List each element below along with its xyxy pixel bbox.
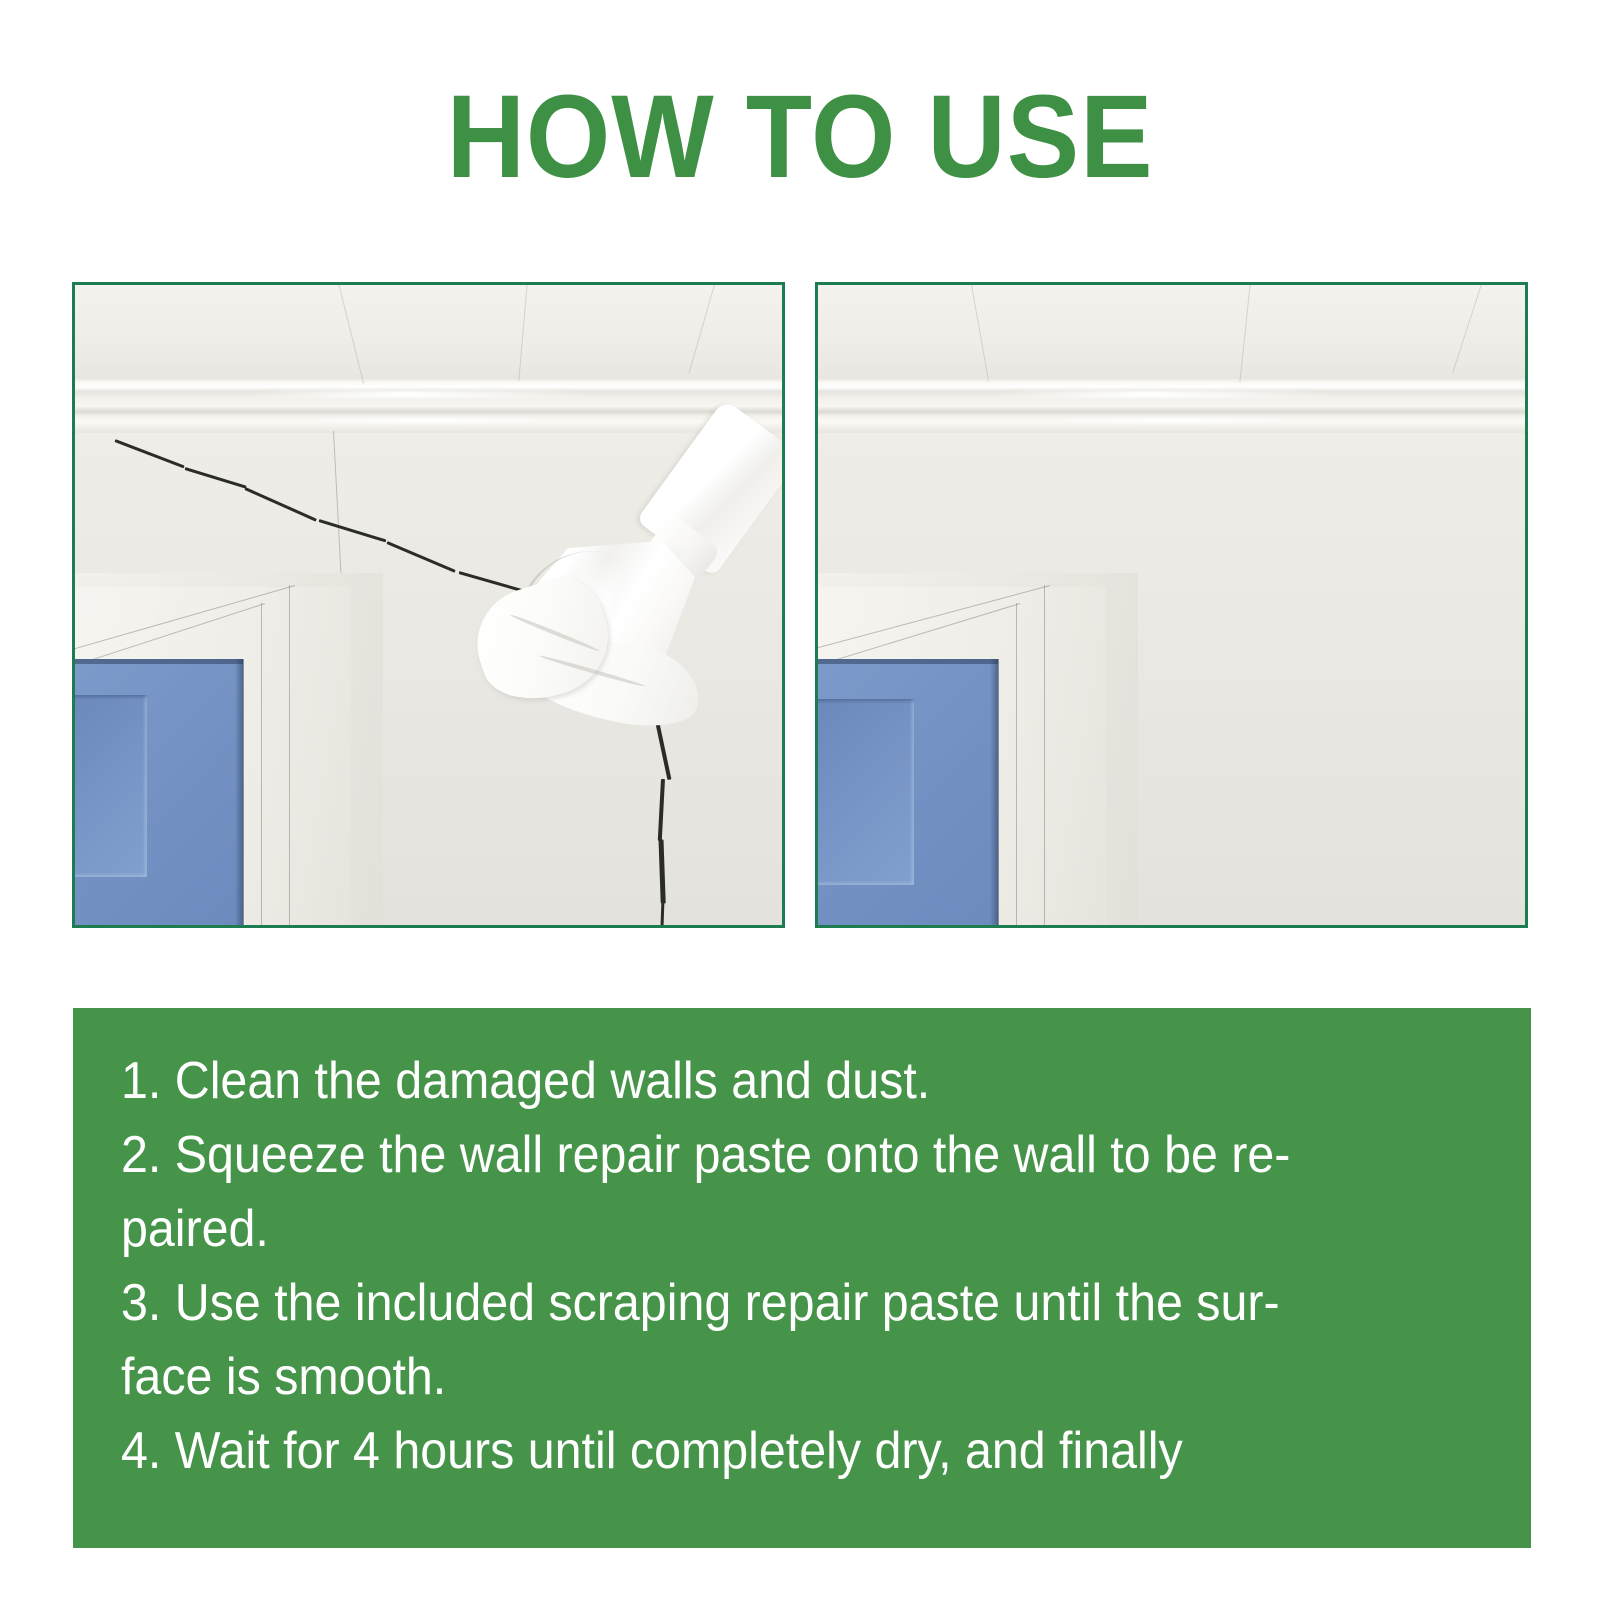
casing-miter-line-2	[1016, 603, 1017, 925]
instruction-line: 4. Wait for 4 hours until completely dry…	[121, 1414, 1391, 1488]
instruction-line: 3. Use the included scraping repair past…	[121, 1266, 1391, 1340]
instruction-line: 1. Clean the damaged walls and dust.	[121, 1044, 1391, 1118]
instructions-panel: 1. Clean the damaged walls and dust. 2. …	[73, 1008, 1531, 1548]
crown-molding	[818, 377, 1525, 433]
instruction-line: paired.	[121, 1192, 1391, 1266]
door-top-shadow	[818, 659, 998, 664]
door-recessed-panel	[75, 695, 147, 877]
door-recessed-panel	[818, 699, 914, 885]
scene-after-repair	[818, 285, 1525, 925]
instruction-line: face is smooth.	[121, 1340, 1391, 1414]
molding-highlight	[988, 391, 1342, 398]
page-title: HOW TO USE	[64, 78, 1536, 196]
casing-miter-line-1	[289, 585, 290, 925]
casing-miter-line-2	[261, 603, 262, 925]
ceiling-wall-upper	[818, 285, 1525, 377]
molding-highlight-lower	[1030, 418, 1313, 423]
molding-highlight-lower	[287, 418, 570, 423]
ceiling-wall-upper	[75, 285, 782, 377]
door-right-shadow	[990, 659, 999, 925]
door-right-shadow	[235, 659, 244, 925]
molding-highlight	[245, 391, 599, 398]
casing-miter-line-1	[1044, 585, 1045, 925]
instruction-line: 2. Squeeze the wall repair paste onto th…	[121, 1118, 1391, 1192]
photo-panel-before	[72, 282, 785, 928]
scene-before-repair	[75, 285, 782, 925]
door-top-shadow	[75, 659, 243, 664]
photo-panel-after	[815, 282, 1528, 928]
crown-molding	[75, 377, 782, 433]
